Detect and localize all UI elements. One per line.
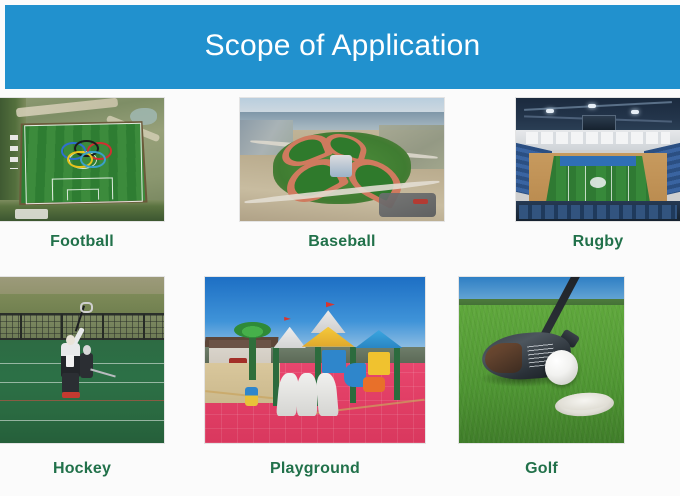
arena-light-1 bbox=[546, 109, 554, 113]
page-title: Scope of Application bbox=[205, 31, 481, 63]
title-bar: Scope of Application bbox=[5, 5, 680, 89]
field-line-3 bbox=[0, 420, 164, 421]
chain-link-fence bbox=[0, 314, 164, 341]
field-logo bbox=[590, 177, 606, 188]
caption-playground: Playground bbox=[205, 460, 425, 478]
yard-line-2 bbox=[585, 166, 586, 205]
center-pavilion bbox=[330, 155, 352, 177]
scoreboard bbox=[582, 115, 617, 131]
arena-light-3 bbox=[631, 110, 639, 114]
fence-post-3 bbox=[102, 314, 104, 341]
image-golf bbox=[459, 277, 624, 443]
hockey-scene bbox=[0, 277, 164, 443]
caption-rugby: Rugby bbox=[516, 233, 680, 251]
football-scene bbox=[0, 98, 164, 221]
fence-post-2 bbox=[61, 314, 63, 341]
player-two-helmet bbox=[83, 345, 91, 355]
slide-canvas: Scope of Application bbox=[0, 0, 680, 496]
white-slide-2 bbox=[297, 373, 317, 416]
yellow-play-panel bbox=[368, 352, 390, 375]
end-zone bbox=[560, 156, 635, 166]
arena-light-2 bbox=[588, 104, 596, 108]
palm-trunk bbox=[249, 333, 256, 379]
rugby-scene bbox=[516, 98, 680, 221]
golf-scene bbox=[459, 277, 624, 443]
yard-line-3 bbox=[611, 166, 612, 205]
caption-hockey: Hockey bbox=[0, 460, 164, 478]
field-line-2 bbox=[0, 382, 164, 383]
goal-box bbox=[67, 189, 99, 200]
yard-line-4 bbox=[628, 166, 629, 205]
player-one-number bbox=[66, 355, 74, 367]
fence-post-4 bbox=[143, 314, 145, 341]
player-one-helmet bbox=[66, 335, 74, 345]
image-playground bbox=[205, 277, 425, 443]
caption-football: Football bbox=[0, 233, 164, 251]
spectator-stand bbox=[10, 135, 18, 169]
caption-baseball: Baseball bbox=[240, 233, 444, 251]
lacrosse-stick-head bbox=[80, 302, 92, 313]
caption-golf: Golf bbox=[459, 460, 624, 478]
fence-post-1 bbox=[20, 314, 22, 341]
baseball-scene bbox=[240, 98, 444, 221]
yard-line-1 bbox=[568, 166, 569, 205]
court-pad bbox=[15, 209, 48, 219]
parking-lot bbox=[379, 193, 436, 218]
olympic-ring-green bbox=[80, 151, 105, 169]
spring-rider bbox=[245, 387, 258, 407]
concourse-windows bbox=[526, 132, 670, 143]
red-vehicle bbox=[413, 199, 427, 204]
player-one-shoes bbox=[62, 392, 80, 399]
player-two-body bbox=[80, 353, 93, 378]
orange-slide bbox=[363, 377, 385, 392]
player-one-legs bbox=[62, 373, 78, 393]
club-face-reflection bbox=[485, 343, 521, 373]
image-baseball bbox=[240, 98, 444, 221]
support-post-4 bbox=[394, 347, 400, 400]
golf-ball bbox=[545, 350, 578, 385]
foreground-seats bbox=[519, 205, 676, 219]
blue-play-panel bbox=[322, 350, 346, 373]
image-hockey bbox=[0, 277, 164, 443]
field-line-red bbox=[0, 400, 164, 401]
image-rugby bbox=[516, 98, 680, 221]
blue-tube-slide bbox=[344, 363, 366, 386]
image-football bbox=[0, 98, 164, 221]
playground-scene bbox=[205, 277, 425, 443]
